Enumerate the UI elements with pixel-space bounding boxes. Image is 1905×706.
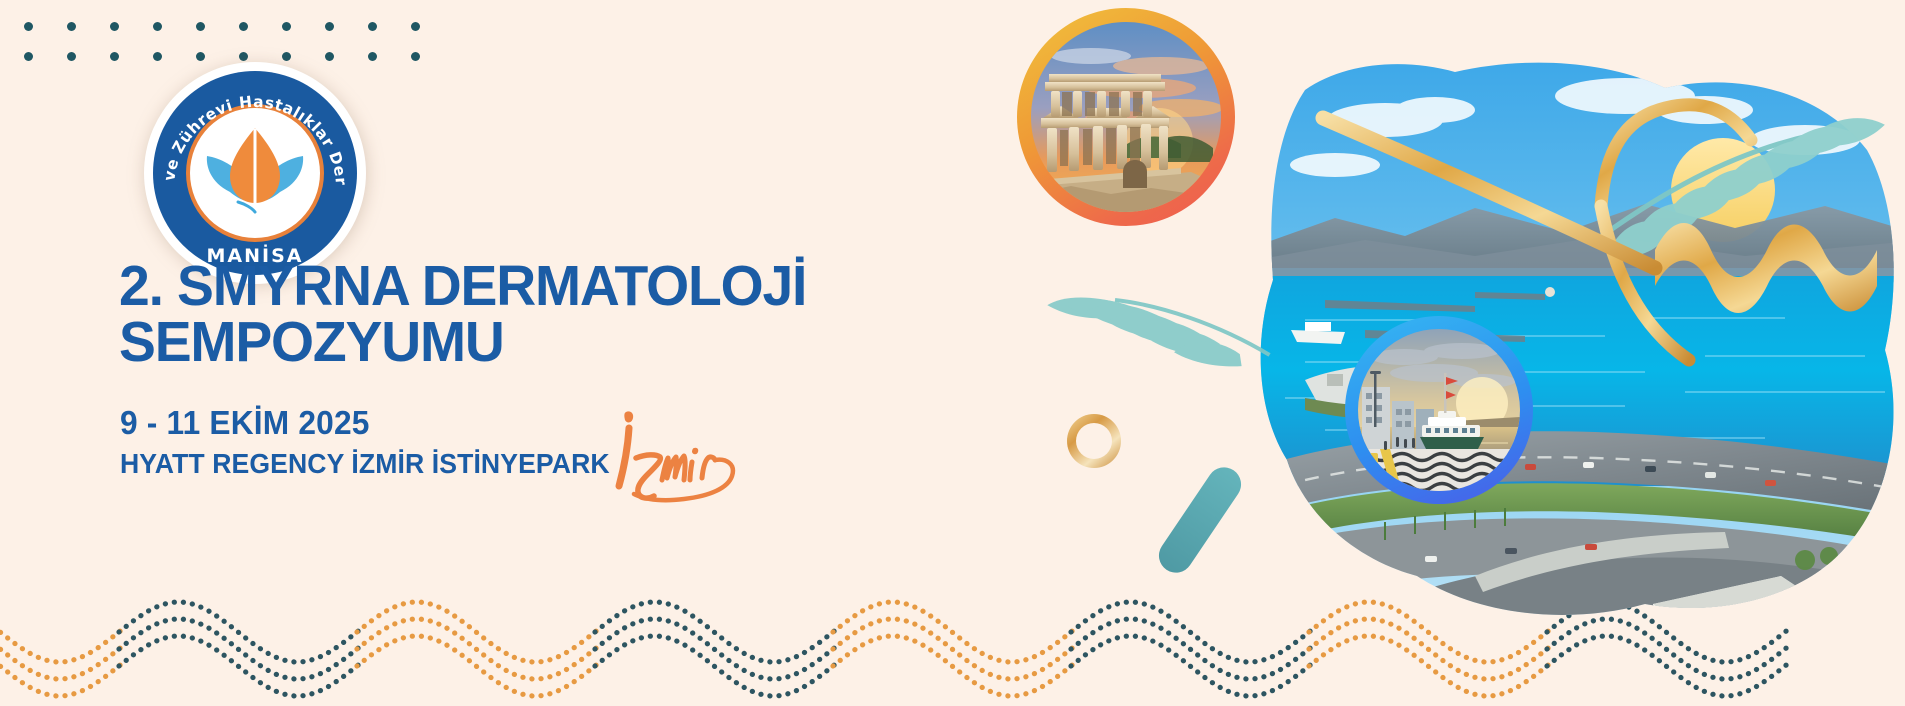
grid-dot bbox=[196, 22, 205, 31]
wave-dotted-line bbox=[119, 636, 359, 696]
event-banner: Deri ve Zührevi Hastalıklar Derneği MANİ… bbox=[0, 0, 1905, 706]
event-venue: HYATT REGENCY İZMİR İSTİNYEPARK bbox=[120, 448, 610, 480]
grid-dot bbox=[325, 22, 334, 31]
wave-dotted-line bbox=[357, 636, 597, 696]
photo-collage bbox=[1005, 0, 1905, 706]
photo-izmir-kordon-ferry bbox=[1345, 316, 1533, 504]
grid-dot bbox=[67, 22, 76, 31]
event-title-line-2: SEMPOZYUMU bbox=[119, 314, 953, 370]
wave-dotted-line bbox=[595, 602, 835, 662]
grid-dot bbox=[67, 52, 76, 61]
grid-dot bbox=[368, 22, 377, 31]
kordon-illustration bbox=[1358, 329, 1520, 491]
wave-dotted-line bbox=[357, 602, 597, 662]
grid-dot bbox=[153, 22, 162, 31]
wave-dotted-line bbox=[357, 619, 597, 679]
event-title: 2. SMYRNA DERMATOLOJİ SEMPOZYUMU bbox=[119, 258, 953, 371]
izmir-script-wordmark bbox=[604, 404, 754, 509]
wave-dotted-line bbox=[0, 602, 121, 662]
gold-ring-ornament bbox=[1067, 414, 1121, 468]
wave-dotted-line bbox=[119, 602, 359, 662]
photo-ephesus-image bbox=[1031, 22, 1221, 212]
wave-dotted-line bbox=[0, 636, 121, 696]
association-logo: Deri ve Zührevi Hastalıklar Derneği MANİ… bbox=[144, 62, 366, 284]
grid-dot bbox=[110, 22, 119, 31]
grid-dot bbox=[110, 52, 119, 61]
grid-dot bbox=[153, 52, 162, 61]
grid-dot bbox=[411, 22, 420, 31]
photo-ephesus-library-of-celsus bbox=[1017, 8, 1235, 226]
grid-dot bbox=[239, 22, 248, 31]
grid-dot bbox=[282, 22, 291, 31]
palm-frond-ornament bbox=[1047, 243, 1270, 417]
wave-dotted-line bbox=[119, 619, 359, 679]
wave-dotted-line bbox=[595, 636, 835, 696]
event-date: 9 - 11 EKİM 2025 bbox=[120, 404, 370, 442]
event-title-line-1: 2. SMYRNA DERMATOLOJİ bbox=[119, 254, 806, 318]
wave-dotted-line bbox=[595, 619, 835, 679]
grid-dot bbox=[368, 52, 377, 61]
grid-dot bbox=[282, 52, 291, 61]
wave-dotted-line bbox=[0, 619, 121, 679]
grid-dot bbox=[24, 52, 33, 61]
ephesus-illustration bbox=[1031, 22, 1221, 212]
grid-dot bbox=[24, 22, 33, 31]
photo-kordon-image bbox=[1358, 329, 1520, 491]
grid-dot bbox=[196, 52, 205, 61]
izmir-script-svg bbox=[604, 404, 754, 509]
grid-dot bbox=[239, 52, 248, 61]
grid-dot bbox=[325, 52, 334, 61]
grid-dot bbox=[411, 52, 420, 61]
tulip-flame-with-leaves-icon bbox=[190, 108, 320, 238]
